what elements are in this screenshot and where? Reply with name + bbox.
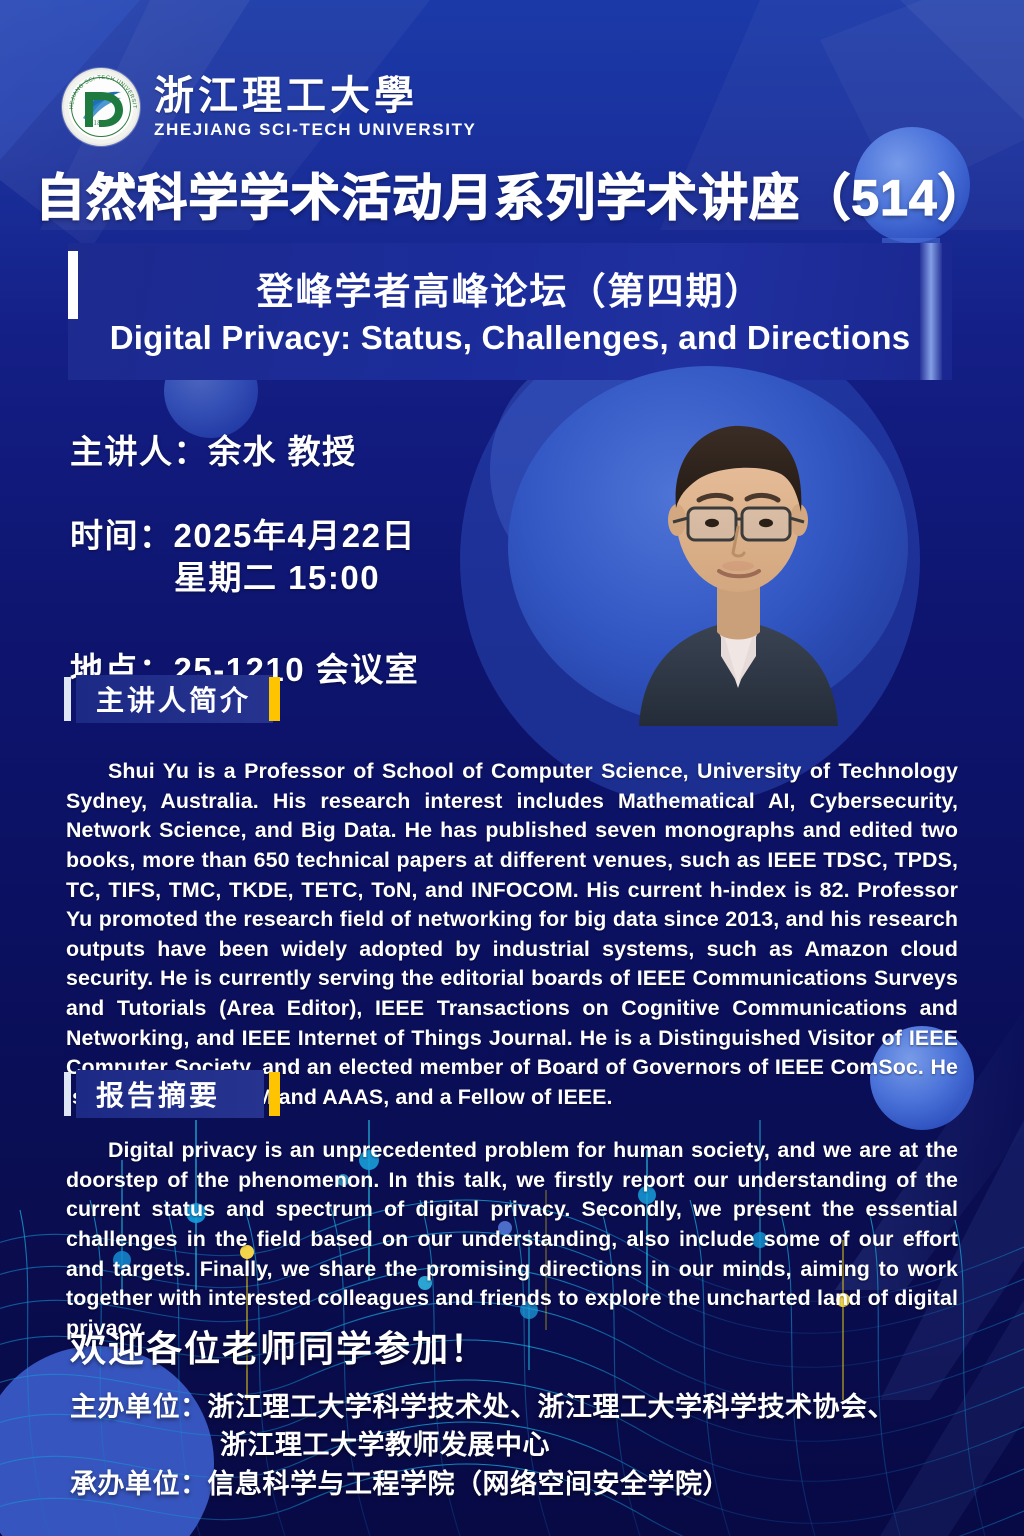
time-line-2: 星期二 15:00	[70, 557, 540, 599]
university-logo: ZHEJIANG SCI-TECH UNIVERSITY 1897 浙江理工大學…	[62, 68, 477, 146]
host-line-2: 浙江理工大学教师发展中心	[70, 1426, 980, 1464]
series-title: 自然科学学术活动月系列学术讲座（514）	[0, 158, 1024, 230]
host-line-2-text: 浙江理工大学教师发展中心	[220, 1430, 550, 1460]
speaker-photo-area	[508, 366, 938, 726]
title-band: 登峰学者高峰论坛（第四期） Digital Privacy: Status, C…	[68, 243, 952, 380]
abstract-heading-text: 报告摘要	[96, 1074, 220, 1114]
abstract-header-box: 报告摘要	[76, 1070, 264, 1118]
time-line: 时间：2025年4月22日 星期二 15:00	[70, 515, 540, 599]
talk-topic-en: Digital Privacy: Status, Challenges, and…	[68, 319, 952, 357]
event-details: 主讲人：余水 教授 时间：2025年4月22日 星期二 15:00 地点：25-…	[70, 425, 540, 691]
university-name-cn: 浙江理工大學	[154, 75, 477, 117]
welcome-line: 欢迎各位老师同学参加！	[70, 1320, 488, 1372]
poster-header: ZHEJIANG SCI-TECH UNIVERSITY 1897 浙江理工大學…	[0, 0, 1024, 230]
bio-header-left-bar	[64, 677, 71, 721]
host-line-1: 主办单位：浙江理工大学科学技术处、浙江理工大学科学技术协会、	[70, 1388, 980, 1426]
bio-paragraph: Shui Yu is a Professor of School of Comp…	[66, 757, 958, 1113]
bio-section-header: 主讲人简介	[64, 675, 294, 723]
abstract-section-header: 报告摘要	[64, 1070, 294, 1118]
abstract-header-gold-bar	[269, 1072, 280, 1116]
university-seal-icon: ZHEJIANG SCI-TECH UNIVERSITY 1897	[62, 68, 140, 146]
abstract-header-left-bar	[64, 1072, 71, 1116]
abstract-paragraph: Digital privacy is an unprecedented prob…	[66, 1136, 958, 1343]
poster-canvas: ZHEJIANG SCI-TECH UNIVERSITY 1897 浙江理工大學…	[0, 0, 1024, 1536]
time-line-1: 时间：2025年4月22日	[70, 517, 416, 554]
university-name-en: ZHEJIANG SCI-TECH UNIVERSITY	[154, 120, 477, 140]
speaker-portrait	[621, 388, 856, 726]
organizer-line: 承办单位：信息科学与工程学院（网络空间安全学院）	[70, 1465, 980, 1503]
speaker-line: 主讲人：余水 教授	[70, 425, 540, 473]
organizers-block: 主办单位：浙江理工大学科学技术处、浙江理工大学科学技术协会、 浙江理工大学教师发…	[70, 1388, 980, 1503]
bio-header-gold-bar	[269, 677, 280, 721]
seal-year: 1897	[64, 119, 138, 127]
bio-header-box: 主讲人简介	[76, 675, 273, 723]
bio-text: Shui Yu is a Professor of School of Comp…	[66, 759, 958, 1109]
university-wordmark: 浙江理工大學 ZHEJIANG SCI-TECH UNIVERSITY	[154, 75, 477, 140]
abstract-text: Digital privacy is an unprecedented prob…	[66, 1138, 958, 1340]
forum-title-cn: 登峰学者高峰论坛（第四期）	[68, 261, 952, 315]
bio-heading-text: 主讲人简介	[96, 679, 251, 719]
